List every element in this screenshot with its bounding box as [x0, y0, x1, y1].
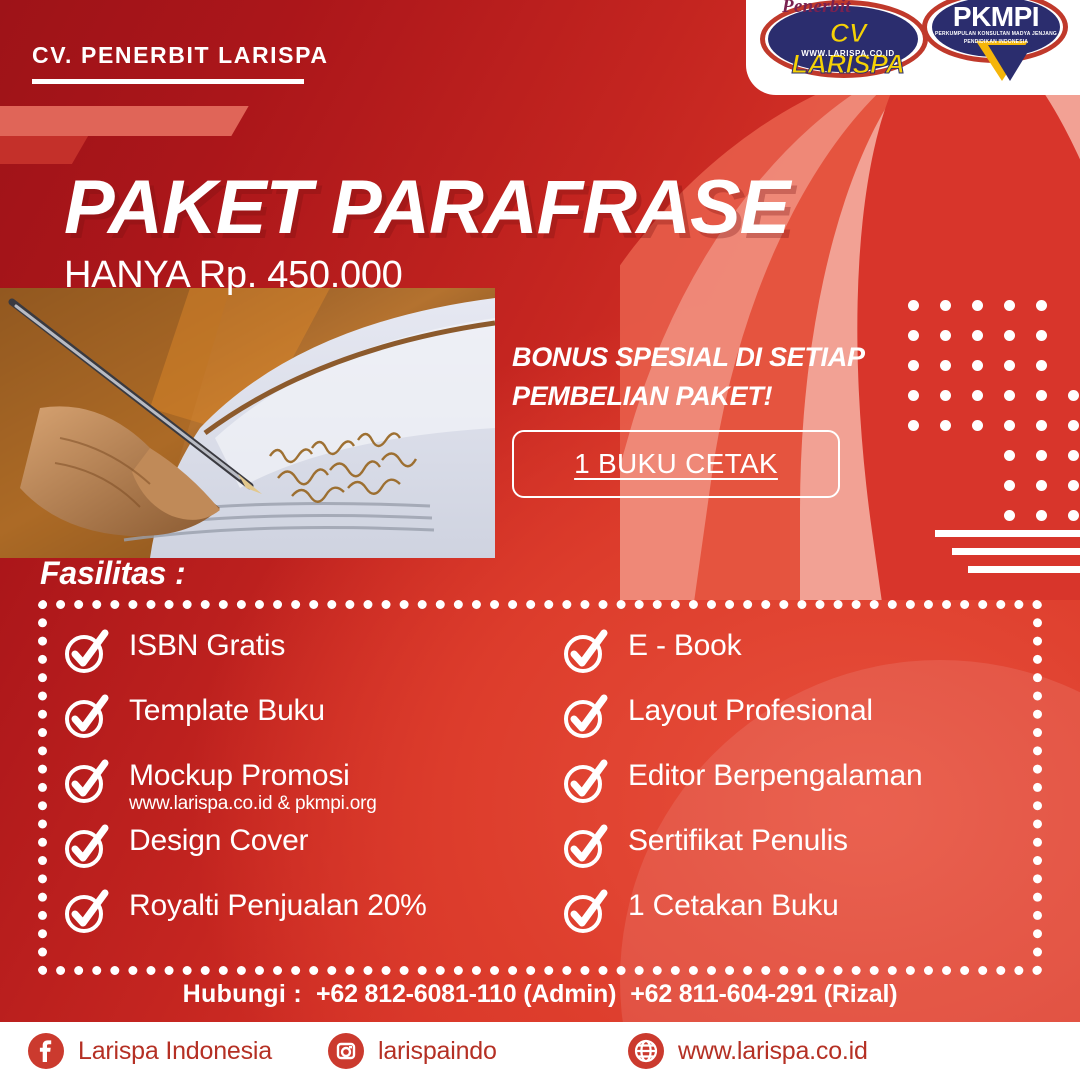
facility-text: Design Cover [129, 824, 308, 857]
contact-label: Hubungi : [183, 980, 302, 1009]
contact-phone-rizal[interactable]: +62 811-604-291 (Rizal) [630, 980, 897, 1009]
facility-text: Editor Berpengalaman [628, 759, 923, 792]
facebook-icon [28, 1033, 64, 1069]
pkmpi-logo: PKMPI PERKUMPULAN KONSULTAN MADYA JENJAN… [918, 0, 1068, 85]
list-item: Editor Berpengalaman [562, 757, 1017, 822]
bonus-line-1: BONUS SPESIAL DI SETIAP [512, 338, 912, 377]
headline-block: PAKET PARAFRASE HANYA Rp. 450.000 [64, 170, 789, 297]
list-item: Royalti Penjualan 20% [63, 887, 540, 952]
social-footer: Larispa Indonesia larispaindo www.la [0, 1022, 1080, 1080]
list-item: Template Buku [63, 692, 540, 757]
facility-text: Layout Profesional [628, 694, 873, 727]
bonus-button-label: 1 BUKU CETAK [574, 448, 778, 480]
larispa-penerbit-text: Penerbit [782, 0, 851, 18]
list-item: 1 Cetakan Buku [562, 887, 1017, 952]
larispa-logo: Penerbit CV LARISPA WWW.LARISPA.CO.ID [760, 0, 932, 80]
list-item: Sertifikat Penulis [562, 822, 1017, 887]
larispa-url-text: WWW.LARISPA.CO.ID [770, 49, 926, 58]
facilities-column-left: ISBN Gratis Template Buku [63, 627, 540, 952]
footer-facebook-label: Larispa Indonesia [78, 1037, 272, 1066]
hero-photo-writing-calligraphy [0, 288, 495, 558]
diagonal-stripe-light [0, 106, 249, 136]
facility-note: www.larispa.co.id & pkmpi.org [129, 793, 377, 815]
footer-instagram-label: larispaindo [378, 1037, 497, 1066]
promo-poster: Penerbit CV LARISPA WWW.LARISPA.CO.ID PK… [0, 0, 1080, 1080]
brand-header: CV. PENERBIT LARISPA [32, 42, 329, 84]
facility-text: Sertifikat Penulis [628, 824, 848, 857]
brand-underline [32, 79, 304, 84]
step-line [968, 566, 1080, 573]
check-circle-icon [63, 889, 109, 935]
facility-text: Royalti Penjualan 20% [129, 889, 427, 922]
facilities-column-right: E - Book Layout Profesional [540, 627, 1017, 952]
footer-website[interactable]: www.larispa.co.id [628, 1033, 868, 1069]
check-circle-icon [562, 889, 608, 935]
instagram-icon [328, 1033, 364, 1069]
step-line [935, 530, 1080, 537]
check-circle-icon [562, 629, 608, 675]
facilities-box: ISBN Gratis Template Buku [38, 600, 1042, 975]
facility-text: Mockup Promosi [129, 760, 377, 792]
list-item: ISBN Gratis [63, 627, 540, 692]
facilities-label: Fasilitas : [40, 555, 185, 592]
bonus-line-2: PEMBELIAN PAKET! [512, 377, 912, 416]
facility-text: ISBN Gratis [129, 629, 285, 662]
footer-website-label: www.larispa.co.id [678, 1037, 868, 1066]
stepped-lines-decoration [935, 530, 1080, 584]
footer-instagram[interactable]: larispaindo [328, 1033, 628, 1069]
check-circle-icon [63, 824, 109, 870]
page-title: PAKET PARAFRASE [64, 170, 789, 246]
photo-illustration [0, 288, 495, 558]
check-circle-icon [63, 759, 109, 805]
step-line [952, 548, 1080, 555]
brand-header-text: CV. PENERBIT LARISPA [32, 42, 329, 69]
bonus-button[interactable]: 1 BUKU CETAK [512, 430, 840, 498]
check-circle-icon [562, 694, 608, 740]
dot-grid-decoration [908, 300, 1080, 540]
check-circle-icon [63, 694, 109, 740]
check-circle-icon [562, 824, 608, 870]
price-text: HANYA Rp. 450.000 [64, 254, 789, 297]
list-item: Design Cover [63, 822, 540, 887]
facility-text: E - Book [628, 629, 741, 662]
pkmpi-subtitle-text: PERKUMPULAN KONSULTAN MADYA JENJANG PEND… [934, 31, 1058, 46]
facility-text: Template Buku [129, 694, 325, 727]
facility-text: 1 Cetakan Buku [628, 889, 839, 922]
contact-phone-admin[interactable]: +62 812-6081-110 (Admin) [316, 980, 616, 1009]
pkmpi-name-text: PKMPI [932, 3, 1060, 31]
diagonal-stripe-dark [0, 136, 88, 164]
check-circle-icon [562, 759, 608, 805]
list-item: E - Book [562, 627, 1017, 692]
logo-plate: Penerbit CV LARISPA WWW.LARISPA.CO.ID PK… [746, 0, 1080, 95]
globe-icon [628, 1033, 664, 1069]
bonus-block: BONUS SPESIAL DI SETIAP PEMBELIAN PAKET!… [512, 338, 912, 498]
list-item: Layout Profesional [562, 692, 1017, 757]
list-item: Mockup Promosi www.larispa.co.id & pkmpi… [63, 757, 540, 822]
contact-bar: Hubungi : +62 812-6081-110 (Admin) +62 8… [0, 980, 1080, 1009]
pkmpi-check-navy [988, 45, 1032, 81]
check-circle-icon [63, 629, 109, 675]
footer-facebook[interactable]: Larispa Indonesia [28, 1033, 328, 1069]
